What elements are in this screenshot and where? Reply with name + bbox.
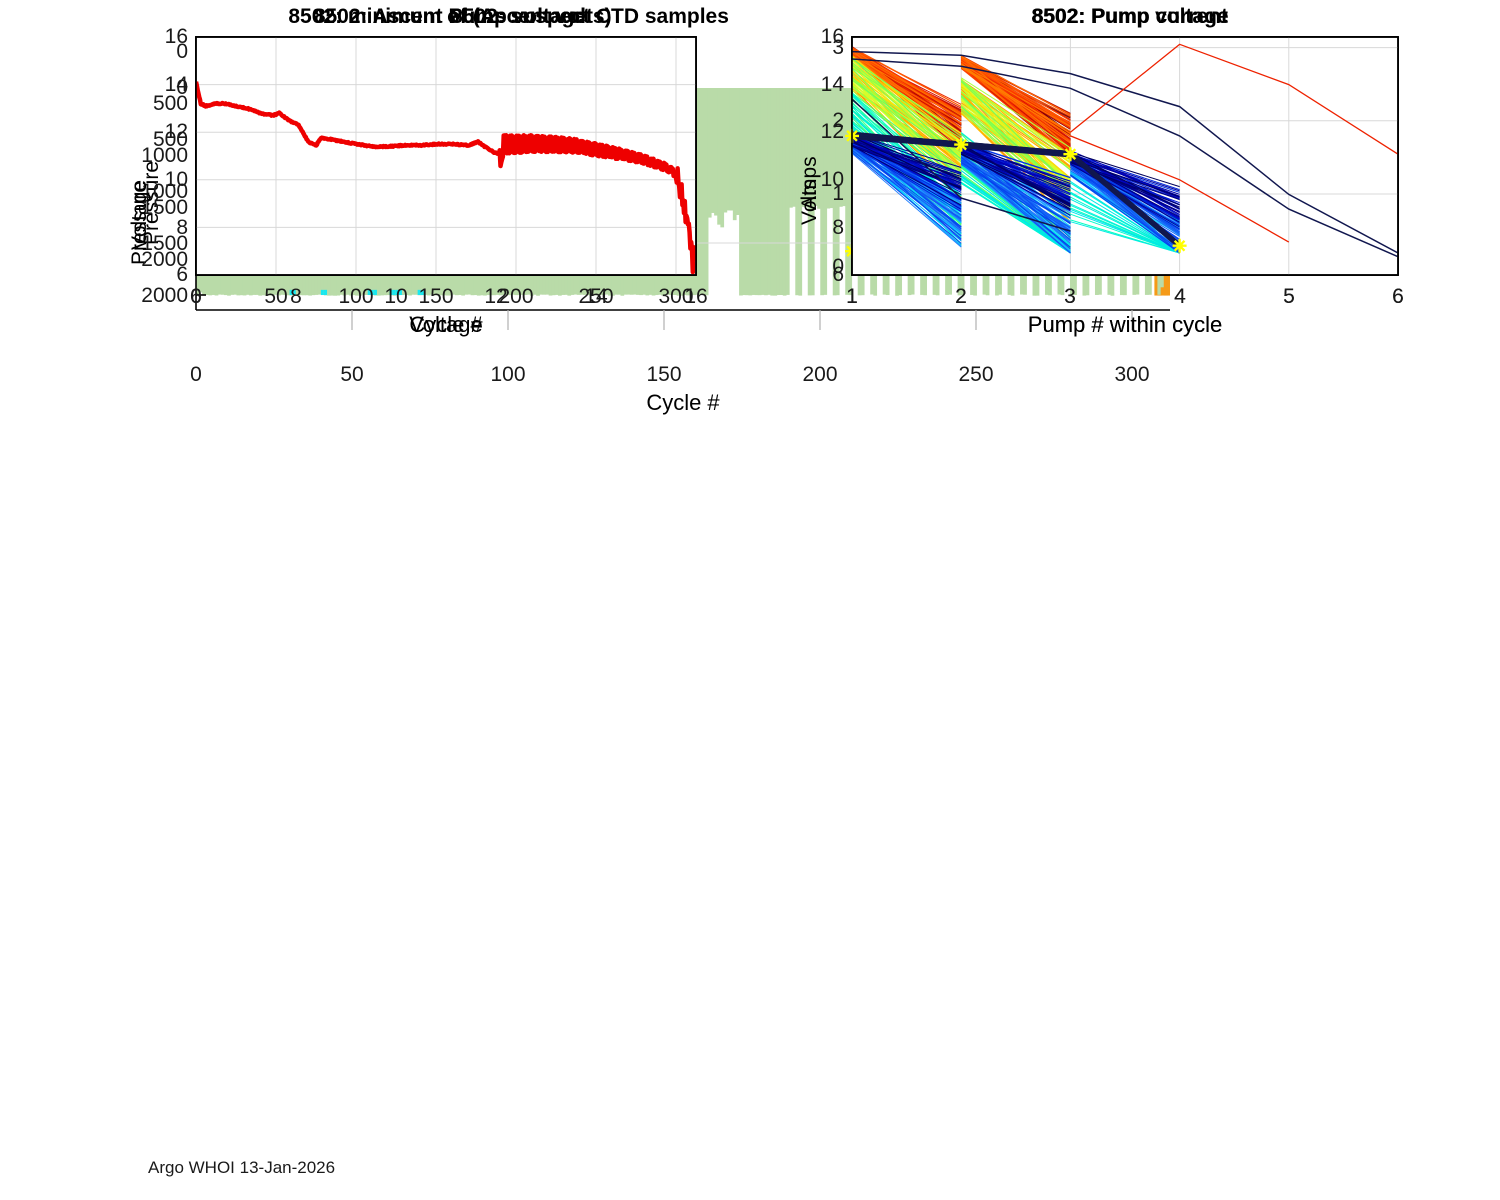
pumpcurrent-ytick-2: 2	[800, 109, 844, 133]
ctd-xtick-250: 250	[951, 363, 1001, 387]
panel-minvolts-xlabel: Cycle #	[196, 312, 696, 338]
pumpcurrent-ytick-0: 0	[800, 255, 844, 279]
ctd-xtick-200: 200	[795, 363, 845, 387]
minvolts-xtick-0: 0	[176, 285, 216, 309]
panel-pumpcurrent-title: 8502: Pump current	[760, 5, 1500, 29]
minvolts-ytick-14: 14	[144, 73, 188, 97]
pumpcurrent-ytick-1: 1	[800, 182, 844, 206]
minvolts-ytick-16: 16	[144, 25, 188, 49]
ctd-xtick-100: 100	[483, 363, 533, 387]
ctd-xtick-50: 50	[332, 363, 372, 387]
minvolts-xtick-50: 50	[256, 285, 296, 309]
ctd-xtick-0: 0	[176, 363, 216, 387]
figure-footer: Argo WHOI 13-Jan-2026	[148, 1158, 335, 1178]
pumpcurrent-xtick-6: 6	[1378, 285, 1418, 309]
minvolts-ytick-6: 6	[144, 263, 188, 287]
pumpcurrent-ytick-3: 3	[800, 36, 844, 60]
minvolts-xtick-150: 150	[411, 285, 461, 309]
panel-pump-current: 8502: Pump current Amps 3 2 1 0 1 2 3 4	[760, 0, 1500, 350]
panel-pumpcurrent-xlabel: Pump # within cycle	[852, 312, 1398, 338]
minvolts-xtick-200: 200	[491, 285, 541, 309]
minvolts-xtick-300: 300	[651, 285, 701, 309]
pumpcurrent-xtick-2: 2	[941, 285, 981, 309]
pumpcurrent-xtick-3: 3	[1050, 285, 1090, 309]
figure-canvas: 8502: suspect CTD samples Pressure	[0, 0, 1500, 1200]
pumpcurrent-xtick-4: 4	[1160, 285, 1200, 309]
ctd-xtick-300: 300	[1107, 363, 1157, 387]
minvolts-ytick-8: 8	[144, 216, 188, 240]
minvolts-ytick-12: 12	[144, 120, 188, 144]
ctd-xtick-150: 150	[639, 363, 689, 387]
panel-ctd-xlabel: Cycle #	[0, 390, 1366, 416]
minvolts-xtick-250: 250	[571, 285, 621, 309]
panel-min-ascent-volts: 8502: minimum of (Ascent volts) Voltage …	[0, 0, 720, 350]
minvolts-ytick-10: 10	[144, 168, 188, 192]
minvolts-xtick-100: 100	[331, 285, 381, 309]
pumpcurrent-xtick-1: 1	[832, 285, 872, 309]
pumpcurrent-xtick-5: 5	[1269, 285, 1309, 309]
